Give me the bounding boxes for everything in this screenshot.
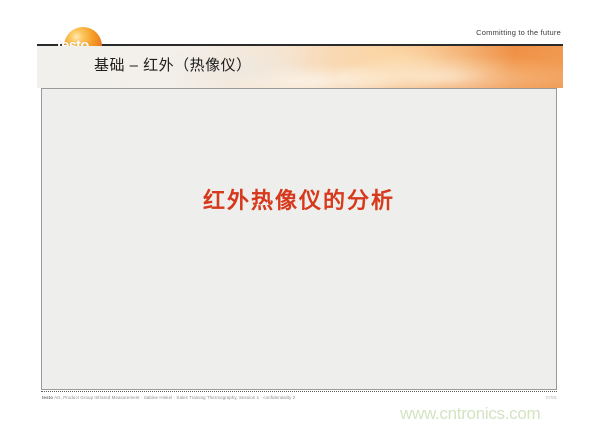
footer-company-name: testo (42, 395, 53, 400)
presentation-slide: Committing to the future testo 基础 – 红外（热… (37, 18, 563, 410)
slide-headline: 红外热像仪的分析 (42, 183, 556, 215)
site-watermark: www.cntronics.com (400, 404, 540, 424)
footer-page-number: 07/01 (546, 395, 557, 400)
footer-credit: testo AG, Product Group Infrared Measure… (42, 395, 295, 400)
banner-wisp-icon (457, 46, 563, 88)
slide-title: 基础 – 红外（热像仪） (94, 54, 252, 75)
slide-content-area: 红外热像仪的分析 (41, 88, 557, 390)
footer-divider-rule (41, 391, 557, 392)
slide-tagline: Committing to the future (476, 28, 561, 37)
footer-credit-text: AG, Product Group Infrared Measurement ·… (53, 395, 295, 400)
